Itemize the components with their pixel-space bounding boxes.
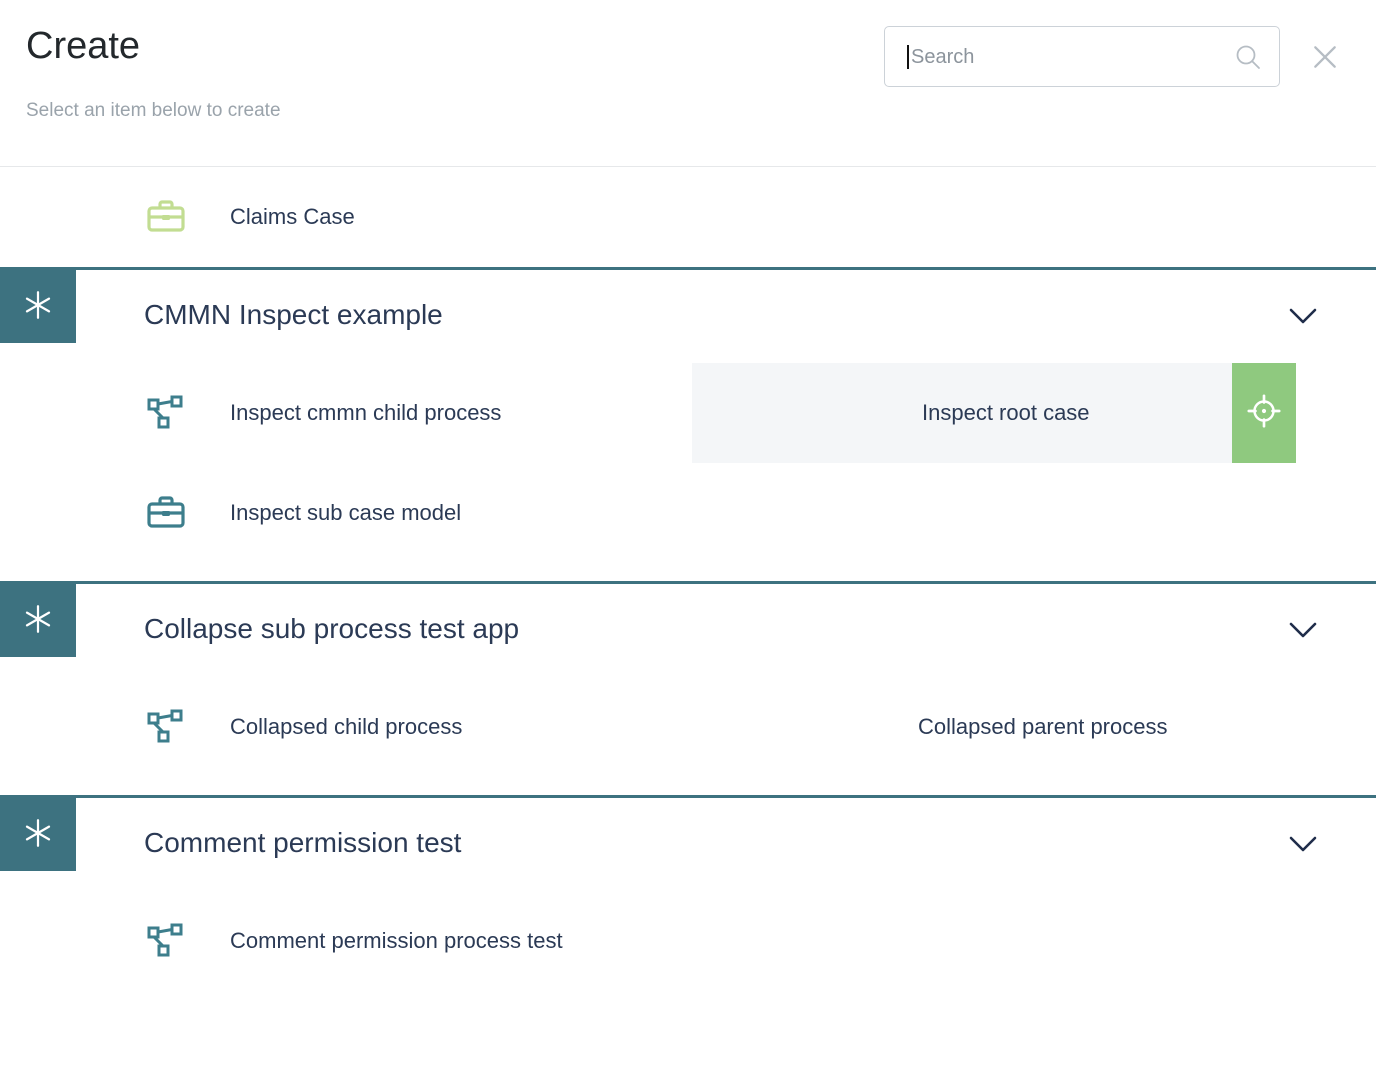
group-title: Comment permission test bbox=[144, 829, 461, 857]
case-icon bbox=[145, 492, 187, 534]
list-item[interactable]: Comment permission process test bbox=[0, 891, 688, 991]
dialog-header: Create Select an item below to create Se… bbox=[0, 0, 1376, 167]
case-icon bbox=[145, 196, 187, 238]
group-items: Inspect cmmn child process Inspect root … bbox=[0, 359, 1376, 563]
group-title: Collapse sub process test app bbox=[144, 615, 519, 643]
list-item-label: Collapsed child process bbox=[142, 716, 462, 738]
search-placeholder: Search bbox=[909, 47, 1233, 67]
group-header[interactable]: CMMN Inspect example bbox=[26, 267, 1376, 359]
create-item-list: Claims Case CMMN Inspect example bbox=[0, 167, 1376, 991]
list-item-hovered[interactable]: Inspect root case bbox=[692, 363, 1296, 463]
target-icon bbox=[1245, 392, 1283, 435]
asterisk-icon bbox=[0, 581, 76, 657]
group-items: Collapsed child process Collapsed parent… bbox=[0, 673, 1376, 777]
list-item[interactable]: Inspect sub case model bbox=[0, 463, 688, 563]
list-item[interactable]: Claims Case bbox=[0, 167, 688, 267]
chevron-down-icon[interactable] bbox=[1286, 826, 1320, 860]
process-icon bbox=[145, 706, 187, 748]
list-item[interactable]: Collapsed child process bbox=[0, 677, 688, 777]
group-header[interactable]: Collapse sub process test app bbox=[26, 581, 1376, 673]
group-spacer bbox=[0, 777, 1376, 795]
list-item-label: Collapsed parent process bbox=[830, 716, 1167, 738]
group-spacer bbox=[0, 563, 1376, 581]
group-title: CMMN Inspect example bbox=[144, 301, 443, 329]
search-field-wrapper[interactable]: Search bbox=[884, 26, 1280, 87]
chevron-down-icon[interactable] bbox=[1286, 298, 1320, 332]
group-cmmn-inspect-example: CMMN Inspect example Inspec bbox=[0, 267, 1376, 563]
list-item-label: Inspect root case bbox=[834, 402, 1090, 424]
process-icon bbox=[145, 920, 187, 962]
chevron-down-icon[interactable] bbox=[1286, 612, 1320, 646]
ungrouped-items: Claims Case bbox=[0, 167, 1376, 267]
list-item[interactable]: Inspect cmmn child process bbox=[0, 363, 688, 463]
group-collapse-sub-process-test-app: Collapse sub process test app bbox=[0, 581, 1376, 777]
group-items: Comment permission process test bbox=[0, 887, 1376, 991]
search-icon[interactable] bbox=[1233, 42, 1263, 72]
list-item-label: Inspect cmmn child process bbox=[142, 402, 501, 424]
list-item[interactable]: Collapsed parent process bbox=[688, 677, 1376, 777]
asterisk-icon bbox=[0, 795, 76, 871]
list-item-label: Inspect sub case model bbox=[142, 502, 461, 524]
asterisk-icon bbox=[0, 267, 76, 343]
page-title: Create bbox=[26, 26, 140, 68]
search-input[interactable]: Search bbox=[884, 26, 1280, 87]
group-header[interactable]: Comment permission test bbox=[26, 795, 1376, 887]
page-subtitle: Select an item below to create bbox=[26, 100, 281, 122]
target-icon-button[interactable] bbox=[1232, 363, 1296, 463]
group-comment-permission-test: Comment permission test Com bbox=[0, 795, 1376, 991]
list-item-label: Comment permission process test bbox=[142, 930, 563, 952]
process-icon bbox=[145, 392, 187, 434]
close-icon[interactable] bbox=[1308, 40, 1342, 74]
